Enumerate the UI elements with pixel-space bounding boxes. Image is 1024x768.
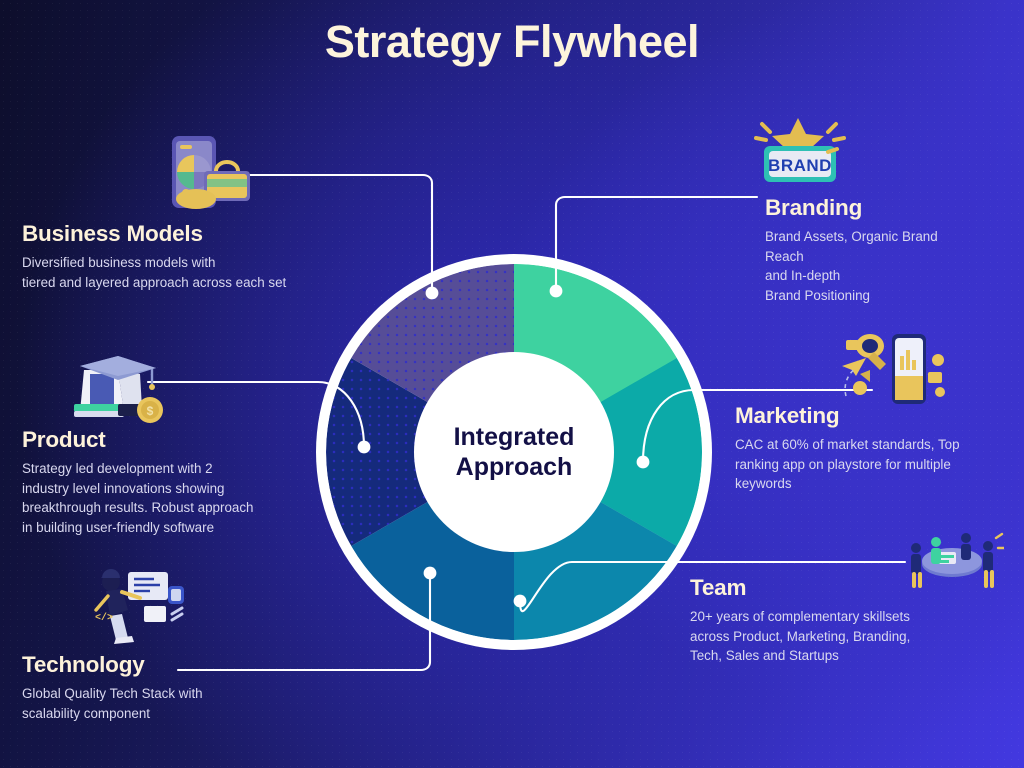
desc-line: Global Quality Tech Stack with bbox=[22, 686, 203, 701]
segment-block-product[interactable]: Product Strategy led development with 2 … bbox=[22, 427, 312, 537]
developer-code-icon: </> bbox=[88, 558, 192, 644]
desc-line: Brand Positioning bbox=[765, 288, 870, 303]
desc-line: and In-depth bbox=[765, 268, 840, 283]
desc-line: Tech, Sales and Startups bbox=[690, 648, 839, 663]
infographic-canvas: Strategy Flywheel bbox=[0, 0, 1024, 768]
desc-line: Strategy led development with 2 bbox=[22, 461, 213, 476]
desc-line: ranking app on playstore for multiple bbox=[735, 457, 951, 472]
desc-line: Brand Assets, Organic Brand bbox=[765, 229, 938, 244]
donut-svg bbox=[305, 243, 723, 661]
desc-line: breakthrough results. Robust approach bbox=[22, 500, 254, 515]
phone-piechart-briefcase-icon bbox=[160, 133, 260, 221]
segment-description-business-models: Diversified business models with tiered … bbox=[22, 253, 332, 292]
page-title: Strategy Flywheel bbox=[0, 16, 1024, 68]
desc-line: across Product, Marketing, Branding, bbox=[690, 629, 910, 644]
segment-block-business-models[interactable]: Business Models Diversified business mod… bbox=[22, 221, 332, 292]
segment-heading-product: Product bbox=[22, 427, 312, 452]
donut-hub bbox=[414, 352, 614, 552]
segment-description-branding: Brand Assets, Organic Brand Reach and In… bbox=[765, 227, 1010, 305]
segment-heading-business-models: Business Models bbox=[22, 221, 332, 246]
segment-block-technology[interactable]: Technology Global Quality Tech Stack wit… bbox=[22, 652, 302, 723]
desc-line: Reach bbox=[765, 249, 804, 264]
segment-heading-branding: Branding bbox=[765, 195, 1010, 220]
desc-line: in building user-friendly software bbox=[22, 520, 214, 535]
desc-line: CAC at 60% of market standards, Top bbox=[735, 437, 960, 452]
graduation-books-coin-icon: $ bbox=[66, 344, 170, 426]
segment-description-technology: Global Quality Tech Stack with scalabili… bbox=[22, 684, 302, 723]
desc-line: 20+ years of complementary skillsets bbox=[690, 609, 910, 624]
svg-text:$: $ bbox=[147, 404, 154, 418]
segment-description-product: Strategy led development with 2 industry… bbox=[22, 459, 312, 537]
segment-description-team: 20+ years of complementary skillsets acr… bbox=[690, 607, 965, 665]
flywheel-donut-chart[interactable]: Integrated Approach bbox=[305, 243, 723, 661]
desc-line: industry level innovations showing bbox=[22, 481, 224, 496]
team-handshake-icon bbox=[900, 528, 1004, 594]
desc-line: tiered and layered approach across each … bbox=[22, 275, 286, 290]
svg-text:BRAND: BRAND bbox=[768, 156, 832, 175]
segment-description-marketing: CAC at 60% of market standards, Top rank… bbox=[735, 435, 1005, 493]
desc-line: keywords bbox=[735, 476, 792, 491]
svg-text:</>: </> bbox=[95, 612, 113, 624]
megaphone-phone-icon bbox=[840, 330, 948, 410]
desc-line: scalability component bbox=[22, 706, 150, 721]
segment-block-branding[interactable]: Branding Brand Assets, Organic Brand Rea… bbox=[765, 195, 1010, 305]
segment-heading-technology: Technology bbox=[22, 652, 145, 677]
brand-sign-star-icon: BRAND bbox=[750, 112, 850, 196]
desc-line: Diversified business models with bbox=[22, 255, 216, 270]
segment-block-marketing[interactable]: Marketing CAC at 60% of market standards… bbox=[735, 403, 1005, 494]
